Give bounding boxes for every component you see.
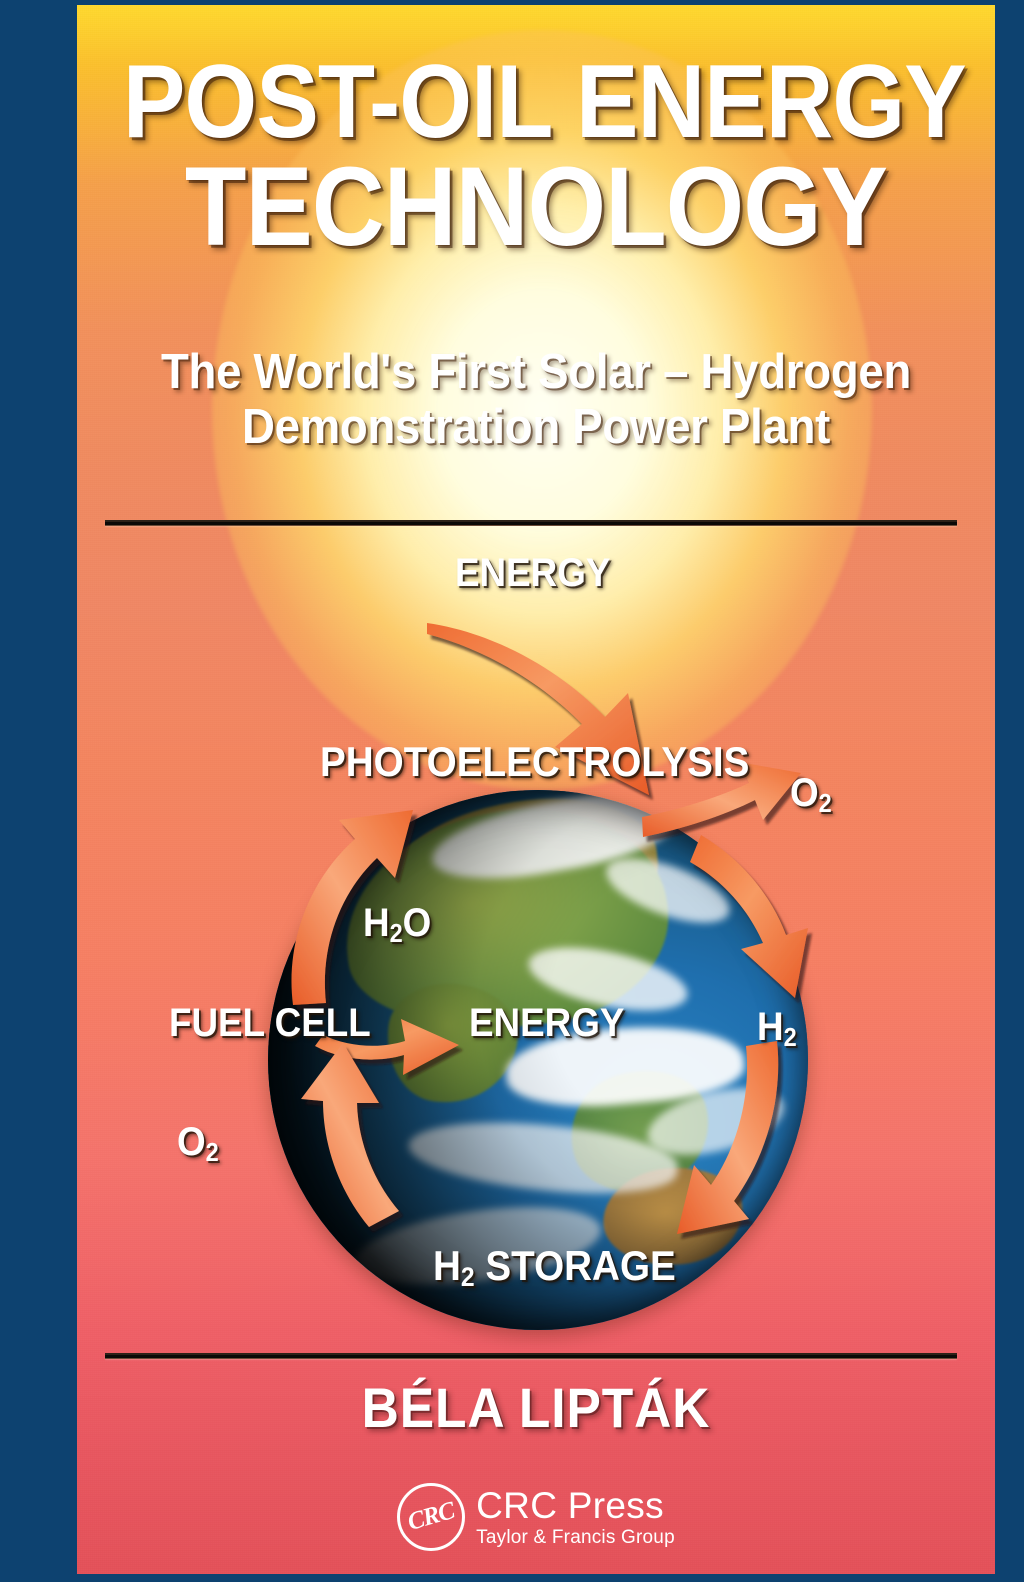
o2-left-symbol: O: [177, 1120, 206, 1164]
book-title-line-1: POST-OIL ENERGY: [123, 53, 949, 153]
book-subtitle-line-2: Demonstration Power Plant: [109, 400, 963, 455]
diagram-label-energy-middle: ENERGY: [469, 1001, 624, 1046]
book-title-line-2: TECHNOLOGY: [123, 153, 949, 261]
diagram-label-h2-storage: H2 STORAGE: [433, 1242, 676, 1290]
diagram-label-fuel-cell: FUEL CELL: [169, 1001, 371, 1046]
book-cover-frame: POST-OIL ENERGY TECHNOLOGY The World's F…: [0, 0, 1024, 1582]
book-subtitle-line-1: The World's First Solar – Hydrogen: [109, 345, 963, 400]
title-block: POST-OIL ENERGY TECHNOLOGY: [77, 53, 995, 260]
publisher-imprint: Taylor & Francis Group: [476, 1528, 675, 1547]
diagram-label-energy-top: ENERGY: [455, 551, 610, 596]
h2-storage-tail: STORAGE: [475, 1242, 676, 1289]
h2o-symbol: H: [363, 901, 390, 945]
crc-monogram: CRC: [393, 1479, 470, 1556]
h2-right-subscript: 2: [784, 1024, 797, 1052]
o2-left-subscript: 2: [206, 1139, 219, 1167]
publisher-wordmark: CRC Press Taylor & Francis Group: [476, 1487, 675, 1547]
diagram-label-photoelectrolysis: PHOTOELECTROLYSIS: [320, 738, 749, 786]
diagram-label-o2-right: O2: [790, 771, 832, 816]
divider-rule-top: [105, 520, 957, 526]
o2-right-symbol: O: [790, 771, 819, 815]
diagram-label-h2o: H2O: [363, 901, 431, 946]
h2o-subscript: 2: [390, 920, 403, 948]
diagram-label-h2-right: H2: [757, 1005, 797, 1050]
h2o-tail: O: [403, 901, 432, 945]
publisher-logo: CRC CRC Press Taylor & Francis Group: [77, 1483, 995, 1551]
diagram-label-o2-left: O2: [177, 1120, 219, 1165]
h2-storage-symbol: H: [433, 1242, 461, 1289]
publisher-name: CRC Press: [476, 1487, 675, 1524]
divider-rule-bottom: [105, 1353, 957, 1359]
subtitle-block: The World's First Solar – Hydrogen Demon…: [77, 345, 995, 455]
author-name: BÉLA LIPTÁK: [114, 1375, 959, 1440]
book-cover: POST-OIL ENERGY TECHNOLOGY The World's F…: [77, 5, 995, 1574]
h2-right-symbol: H: [757, 1005, 784, 1049]
h2-storage-subscript: 2: [461, 1262, 475, 1292]
o2-right-subscript: 2: [819, 790, 832, 818]
crc-circle-icon: CRC: [397, 1483, 465, 1551]
